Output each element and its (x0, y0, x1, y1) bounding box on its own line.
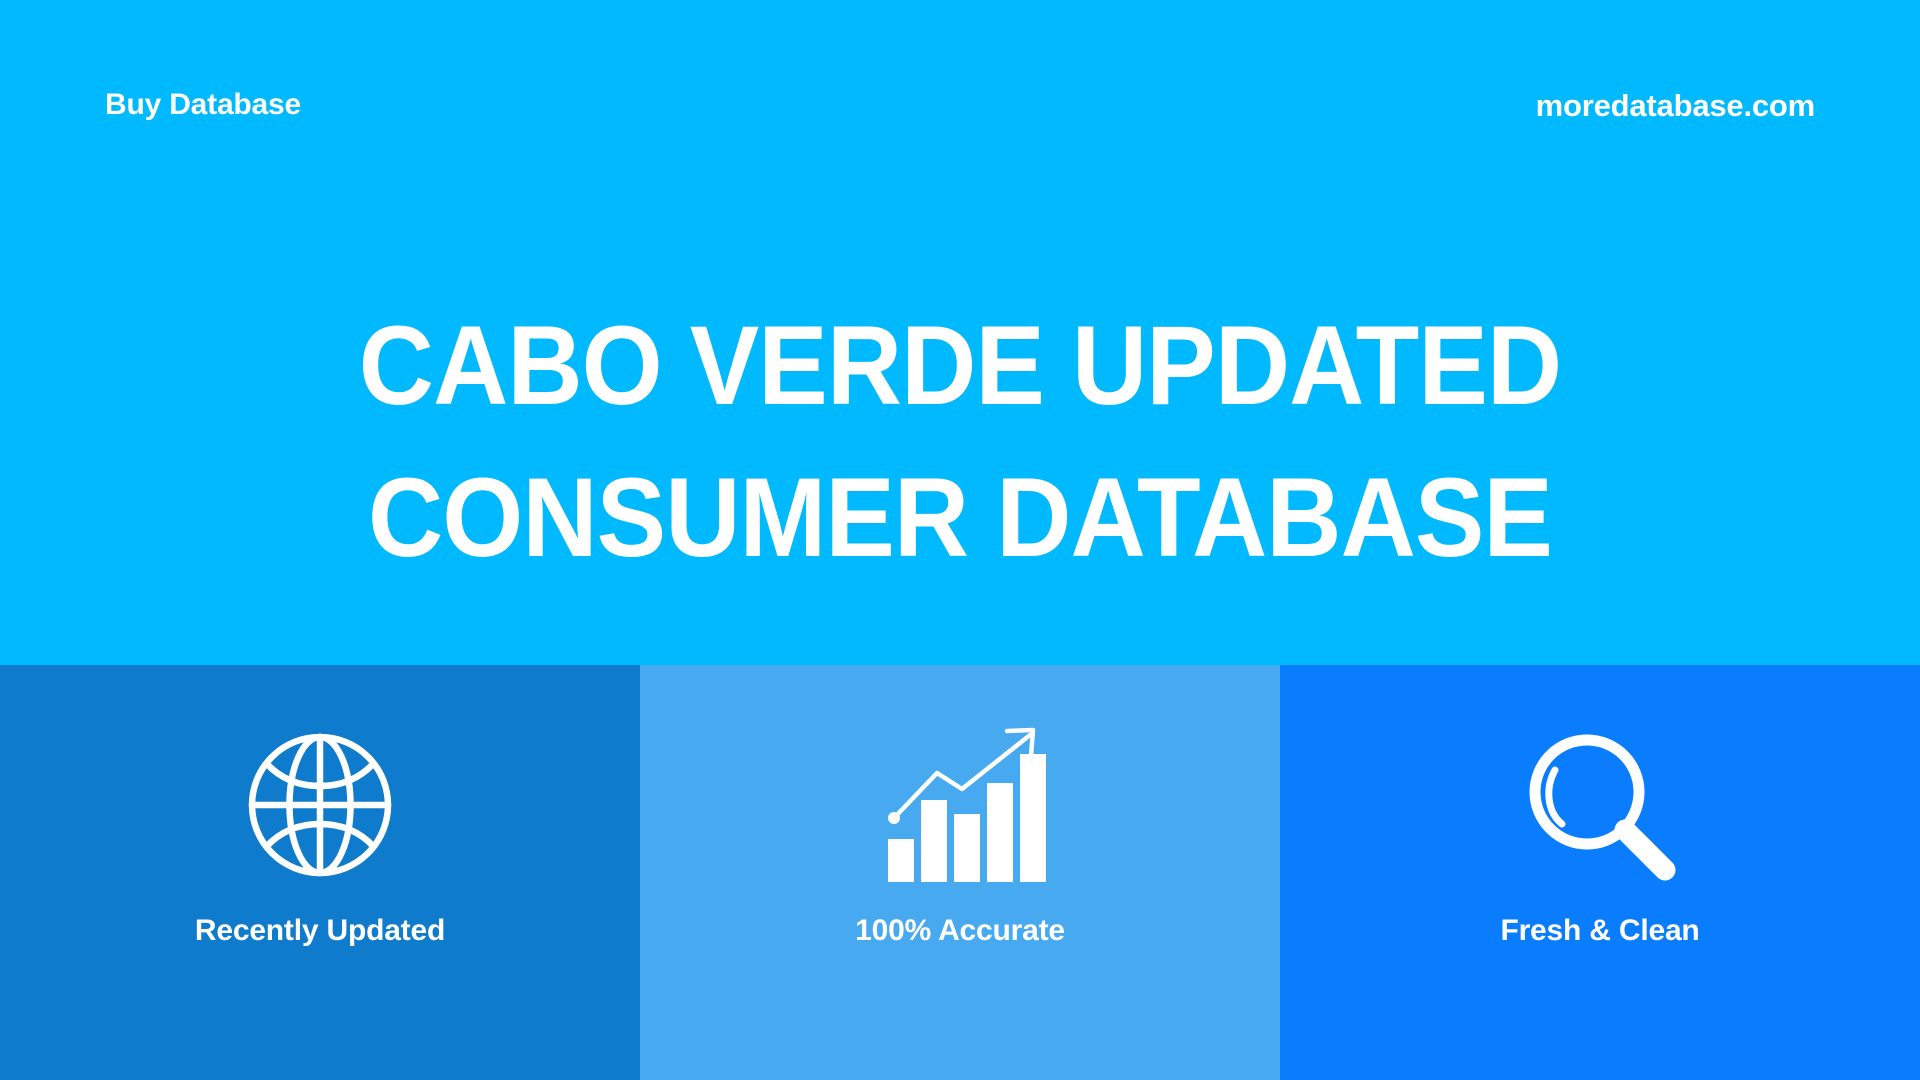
website-url: moredatabase.com (1536, 90, 1815, 121)
feature-panel-fresh-clean: Fresh & Clean (1280, 665, 1920, 1080)
feature-label-fresh-clean: Fresh & Clean (1500, 916, 1699, 946)
brand-name: Buy Database (105, 90, 301, 120)
feature-panel-accurate: 100% Accurate (640, 665, 1280, 1080)
feature-label-recently-updated: Recently Updated (195, 916, 445, 946)
feature-panels: Recently Updated (0, 665, 1920, 1080)
feature-panel-recently-updated: Recently Updated (0, 665, 640, 1080)
page-title-line-2: CONSUMER DATABASE (179, 442, 1741, 594)
page-title-line-1: CABO VERDE UPDATED (179, 290, 1741, 442)
feature-label-accurate: 100% Accurate (855, 916, 1065, 946)
globe-icon (240, 727, 400, 882)
promo-banner: Buy Database moredatabase.com CABO VERDE… (0, 0, 1920, 1080)
growth-chart-icon (880, 727, 1040, 882)
header-bar: Buy Database moredatabase.com (0, 0, 1920, 210)
page-title: CABO VERDE UPDATED CONSUMER DATABASE (67, 290, 1853, 594)
hero-section: Buy Database moredatabase.com CABO VERDE… (0, 0, 1920, 665)
magnifier-icon (1520, 727, 1680, 882)
